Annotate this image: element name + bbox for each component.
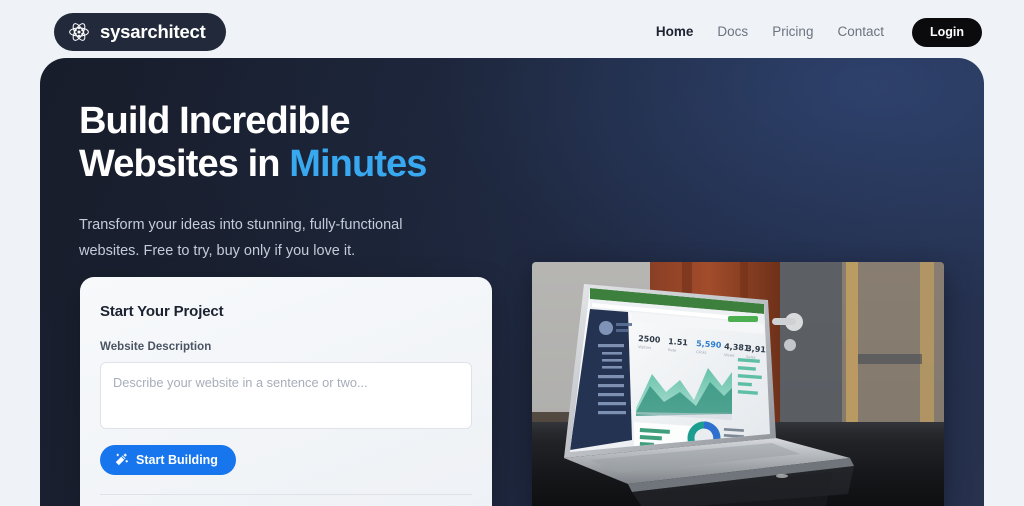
card-divider bbox=[100, 494, 472, 495]
hero-section: Build Incredible Websites in Minutes Tra… bbox=[40, 58, 984, 506]
top-navigation-bar: sysarchitect Home Docs Pricing Contact L… bbox=[0, 0, 1024, 64]
start-project-card: Start Your Project Website Description S… bbox=[80, 277, 492, 506]
start-building-label: Start Building bbox=[136, 453, 218, 467]
svg-text:1.51: 1.51 bbox=[668, 337, 689, 347]
start-building-button[interactable]: Start Building bbox=[100, 445, 236, 475]
nav-link-contact[interactable]: Contact bbox=[825, 25, 896, 39]
magic-wand-icon bbox=[114, 453, 128, 467]
svg-text:Clicks: Clicks bbox=[696, 350, 707, 355]
hero-subtitle: Transform your ideas into stunning, full… bbox=[79, 213, 451, 265]
molecule-icon bbox=[68, 21, 90, 43]
svg-text:Views: Views bbox=[724, 353, 735, 358]
hero-title-accent: Minutes bbox=[289, 143, 426, 185]
nav-link-docs[interactable]: Docs bbox=[705, 25, 760, 39]
landing-page: sysarchitect Home Docs Pricing Contact L… bbox=[0, 0, 1024, 506]
website-description-input[interactable] bbox=[100, 362, 472, 429]
login-button[interactable]: Login bbox=[912, 18, 982, 47]
page-title: Build Incredible Websites in Minutes bbox=[79, 100, 509, 185]
hero-title-line-2: Websites in bbox=[79, 143, 289, 185]
brand-logo[interactable]: sysarchitect bbox=[54, 13, 226, 51]
svg-text:Rate: Rate bbox=[668, 348, 677, 353]
svg-text:5,590: 5,590 bbox=[696, 339, 722, 350]
brand-name: sysarchitect bbox=[100, 23, 206, 42]
nav-link-home[interactable]: Home bbox=[644, 25, 706, 39]
nav-links: Home Docs Pricing Contact Login bbox=[644, 0, 982, 64]
laptop-dashboard-photo: 2500 1.51 5,590 4,381 3,915 Visitors Rat… bbox=[532, 262, 944, 506]
hero-copy: Build Incredible Websites in Minutes Tra… bbox=[79, 100, 509, 265]
hero-title-line-1: Build Incredible bbox=[79, 100, 350, 142]
svg-text:2500: 2500 bbox=[638, 334, 661, 345]
nav-link-pricing[interactable]: Pricing bbox=[760, 25, 825, 39]
website-description-label: Website Description bbox=[100, 341, 472, 353]
card-title: Start Your Project bbox=[100, 303, 472, 320]
laptop-photo-graphic: 2500 1.51 5,590 4,381 3,915 Visitors Rat… bbox=[532, 262, 944, 506]
